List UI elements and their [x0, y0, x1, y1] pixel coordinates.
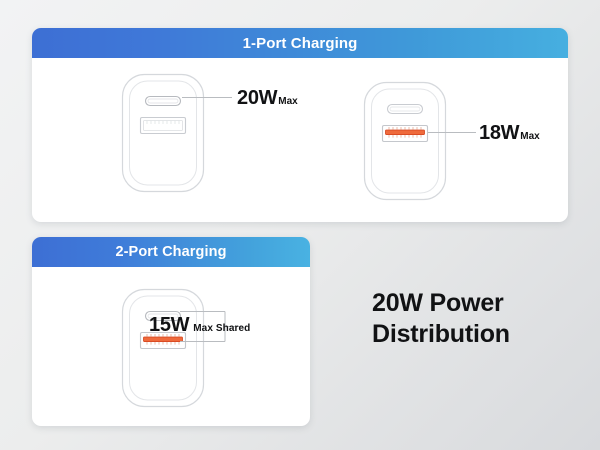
callout-watt-value: 15W	[149, 315, 189, 335]
callout-watt-suffix: Max Shared	[193, 324, 250, 334]
callout-15w-max-shared: 15W Max Shared	[149, 315, 250, 335]
charger-illustration-usb-c-active	[120, 72, 206, 194]
callout-watt-value: 18W	[479, 123, 519, 143]
card-one-port-charging: 1-Port Charging	[32, 28, 568, 222]
headline: 20W Power Distribution	[372, 288, 510, 349]
leader-line-20w	[182, 97, 232, 98]
headline-line-1: 20W Power	[372, 288, 510, 319]
charger-illustration-usb-a-active	[362, 80, 448, 202]
callout-watt-value: 20W	[237, 88, 277, 108]
infographic-stage: 1-Port Charging	[0, 0, 600, 450]
card-body-one-port-charging: 20W Max	[32, 58, 568, 222]
card-header-two-port-charging: 2-Port Charging	[32, 237, 310, 267]
card-header-one-port-charging: 1-Port Charging	[32, 28, 568, 58]
leader-line-18w	[428, 132, 476, 133]
card-body-two-port-charging: 15W Max Shared	[32, 267, 310, 426]
callout-watt-suffix: Max	[278, 97, 297, 107]
callout-20w-max: 20W Max	[237, 88, 298, 108]
callout-18w-max: 18W Max	[479, 123, 540, 143]
callout-watt-suffix: Max	[520, 132, 539, 142]
headline-line-2: Distribution	[372, 319, 510, 350]
card-two-port-charging: 2-Port Charging	[32, 237, 310, 426]
